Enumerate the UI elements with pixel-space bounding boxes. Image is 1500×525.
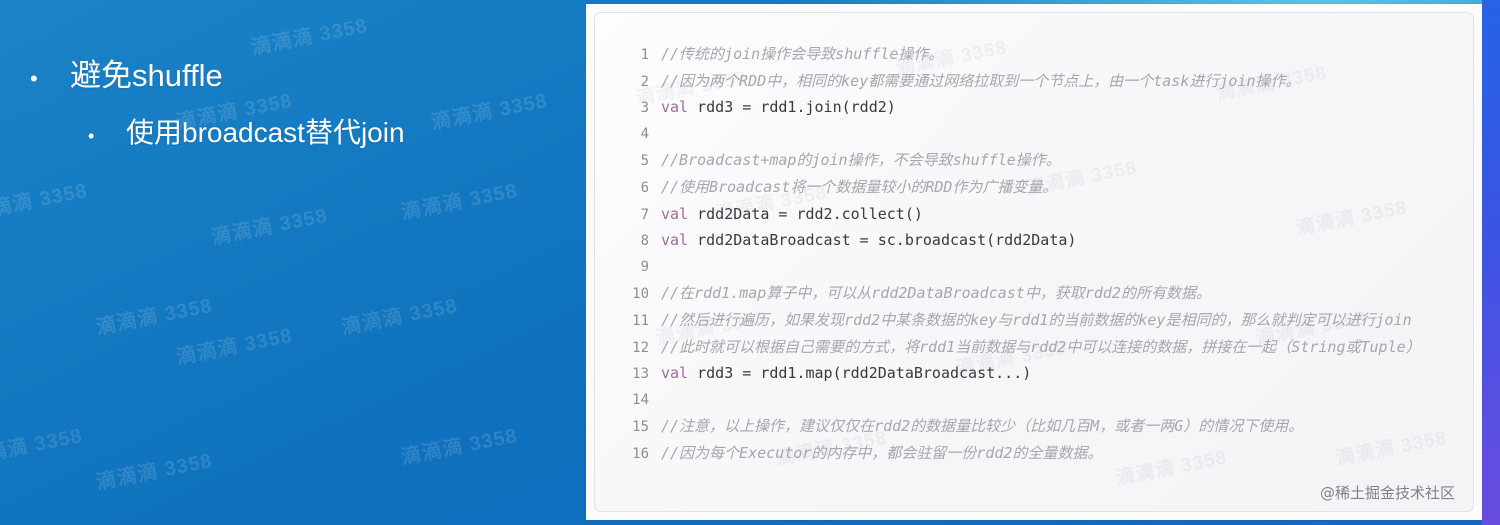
code-line[interactable]: 10//在rdd1.map算子中，可以从rdd2DataBroadcast中，获… <box>595 280 1473 307</box>
line-number: 8 <box>595 228 661 254</box>
line-number: 3 <box>595 95 661 121</box>
code-line[interactable]: 1//传统的join操作会导致shuffle操作。 <box>595 41 1473 68</box>
code-line[interactable]: 8val rdd2DataBroadcast = sc.broadcast(rd… <box>595 227 1473 254</box>
bullet-text-use-broadcast: 使用broadcast替代join <box>126 111 405 151</box>
right-edge-gradient-strip <box>1482 0 1500 525</box>
code-line[interactable]: 11//然后进行遍历，如果发现rdd2中某条数据的key与rdd1的当前数据的k… <box>595 307 1473 334</box>
code-line[interactable]: 4 <box>595 121 1473 148</box>
code-comment: //在rdd1.map算子中，可以从rdd2DataBroadcast中，获取r… <box>661 284 1211 302</box>
code-line[interactable]: 5//Broadcast+map的join操作，不会导致shuffle操作。 <box>595 147 1473 174</box>
code-line[interactable]: 3val rdd3 = rdd1.join(rdd2) <box>595 94 1473 121</box>
bullet-text-avoid-shuffle: 避免shuffle <box>70 50 223 95</box>
bullet-marker-icon: • <box>88 127 126 145</box>
code-line[interactable]: 13val rdd3 = rdd1.map(rdd2DataBroadcast.… <box>595 360 1473 387</box>
code-comment: //因为两个RDD中，相同的key都需要通过网络拉取到一个节点上，由一个task… <box>661 72 1301 90</box>
line-number: 11 <box>595 308 661 334</box>
code-keyword: val <box>661 364 688 382</box>
code-line-content: val rdd3 = rdd1.join(rdd2) <box>661 94 1473 121</box>
line-number: 13 <box>595 361 661 387</box>
code-line[interactable]: 16//因为每个Executor的内存中，都会驻留一份rdd2的全量数据。 <box>595 440 1473 467</box>
code-keyword: val <box>661 205 688 223</box>
code-line-content: //此时就可以根据自己需要的方式，将rdd1当前数据与rdd2中可以连接的数据，… <box>661 334 1473 361</box>
signature-watermark: @稀土掘金技术社区 <box>1320 482 1455 503</box>
code-line-content: //传统的join操作会导致shuffle操作。 <box>661 41 1473 68</box>
code-comment: //然后进行遍历，如果发现rdd2中某条数据的key与rdd1的当前数据的key… <box>661 311 1412 329</box>
line-number: 10 <box>595 281 661 307</box>
code-line-content: //然后进行遍历，如果发现rdd2中某条数据的key与rdd1的当前数据的key… <box>661 307 1473 334</box>
code-line[interactable]: 2//因为两个RDD中，相同的key都需要通过网络拉取到一个节点上，由一个tas… <box>595 68 1473 95</box>
code-line-content: val rdd3 = rdd1.map(rdd2DataBroadcast...… <box>661 360 1473 387</box>
code-line-content: val rdd2Data = rdd2.collect() <box>661 201 1473 228</box>
code-line[interactable]: 6//使用Broadcast将一个数据量较小的RDD作为广播变量。 <box>595 174 1473 201</box>
code-comment: //此时就可以根据自己需要的方式，将rdd1当前数据与rdd2中可以连接的数据，… <box>661 338 1421 356</box>
code-keyword: val <box>661 231 688 249</box>
code-line[interactable]: 15//注意，以上操作，建议仅仅在rdd2的数据量比较少（比如几百M，或者一两G… <box>595 413 1473 440</box>
line-number: 15 <box>595 414 661 440</box>
line-number: 5 <box>595 148 661 174</box>
code-line[interactable]: 14 <box>595 387 1473 414</box>
line-number: 6 <box>595 175 661 201</box>
code-line-content: //因为两个RDD中，相同的key都需要通过网络拉取到一个节点上，由一个task… <box>661 68 1473 95</box>
bullet-list: • 避免shuffle • 使用broadcast替代join <box>0 0 600 151</box>
code-panel: 滴滴滴 3358滴滴滴 3358滴滴滴 3358滴滴滴 3358滴滴滴 3358… <box>594 12 1474 512</box>
code-comment: //传统的join操作会导致shuffle操作。 <box>661 45 943 63</box>
code-comment: //注意，以上操作，建议仅仅在rdd2的数据量比较少（比如几百M，或者一两G）的… <box>661 417 1303 435</box>
code-line-list[interactable]: 1//传统的join操作会导致shuffle操作。2//因为两个RDD中，相同的… <box>595 41 1473 467</box>
line-number: 4 <box>595 121 661 148</box>
line-number: 12 <box>595 335 661 361</box>
line-number: 14 <box>595 387 661 414</box>
code-line-content: val rdd2DataBroadcast = sc.broadcast(rdd… <box>661 227 1473 254</box>
code-line-content: //注意，以上操作，建议仅仅在rdd2的数据量比较少（比如几百M，或者一两G）的… <box>661 413 1473 440</box>
bullet-item-level1: • 避免shuffle <box>0 50 600 95</box>
code-card: 滴滴滴 3358滴滴滴 3358滴滴滴 3358滴滴滴 3358滴滴滴 3358… <box>586 4 1482 520</box>
code-line[interactable]: 12//此时就可以根据自己需要的方式，将rdd1当前数据与rdd2中可以连接的数… <box>595 334 1473 361</box>
bullet-item-level2: • 使用broadcast替代join <box>0 111 600 151</box>
line-number: 9 <box>595 254 661 281</box>
code-line-content: //在rdd1.map算子中，可以从rdd2DataBroadcast中，获取r… <box>661 280 1473 307</box>
slide-root: 滴滴滴 3358滴滴滴 3358滴滴滴 3358滴滴滴 3358滴滴滴 3358… <box>0 0 1500 525</box>
code-comment: //使用Broadcast将一个数据量较小的RDD作为广播变量。 <box>661 178 1057 196</box>
bullet-marker-icon: • <box>30 68 70 90</box>
line-number: 2 <box>595 69 661 95</box>
code-line[interactable]: 9 <box>595 254 1473 281</box>
code-comment: //Broadcast+map的join操作，不会导致shuffle操作。 <box>661 151 1061 169</box>
line-number: 7 <box>595 202 661 228</box>
code-comment: //因为每个Executor的内存中，都会驻留一份rdd2的全量数据。 <box>661 444 1102 462</box>
code-line-content: //Broadcast+map的join操作，不会导致shuffle操作。 <box>661 147 1473 174</box>
line-number: 16 <box>595 441 661 467</box>
code-line-content: //使用Broadcast将一个数据量较小的RDD作为广播变量。 <box>661 174 1473 201</box>
code-line[interactable]: 7val rdd2Data = rdd2.collect() <box>595 201 1473 228</box>
code-keyword: val <box>661 98 688 116</box>
line-number: 1 <box>595 42 661 68</box>
code-line-content: //因为每个Executor的内存中，都会驻留一份rdd2的全量数据。 <box>661 440 1473 467</box>
